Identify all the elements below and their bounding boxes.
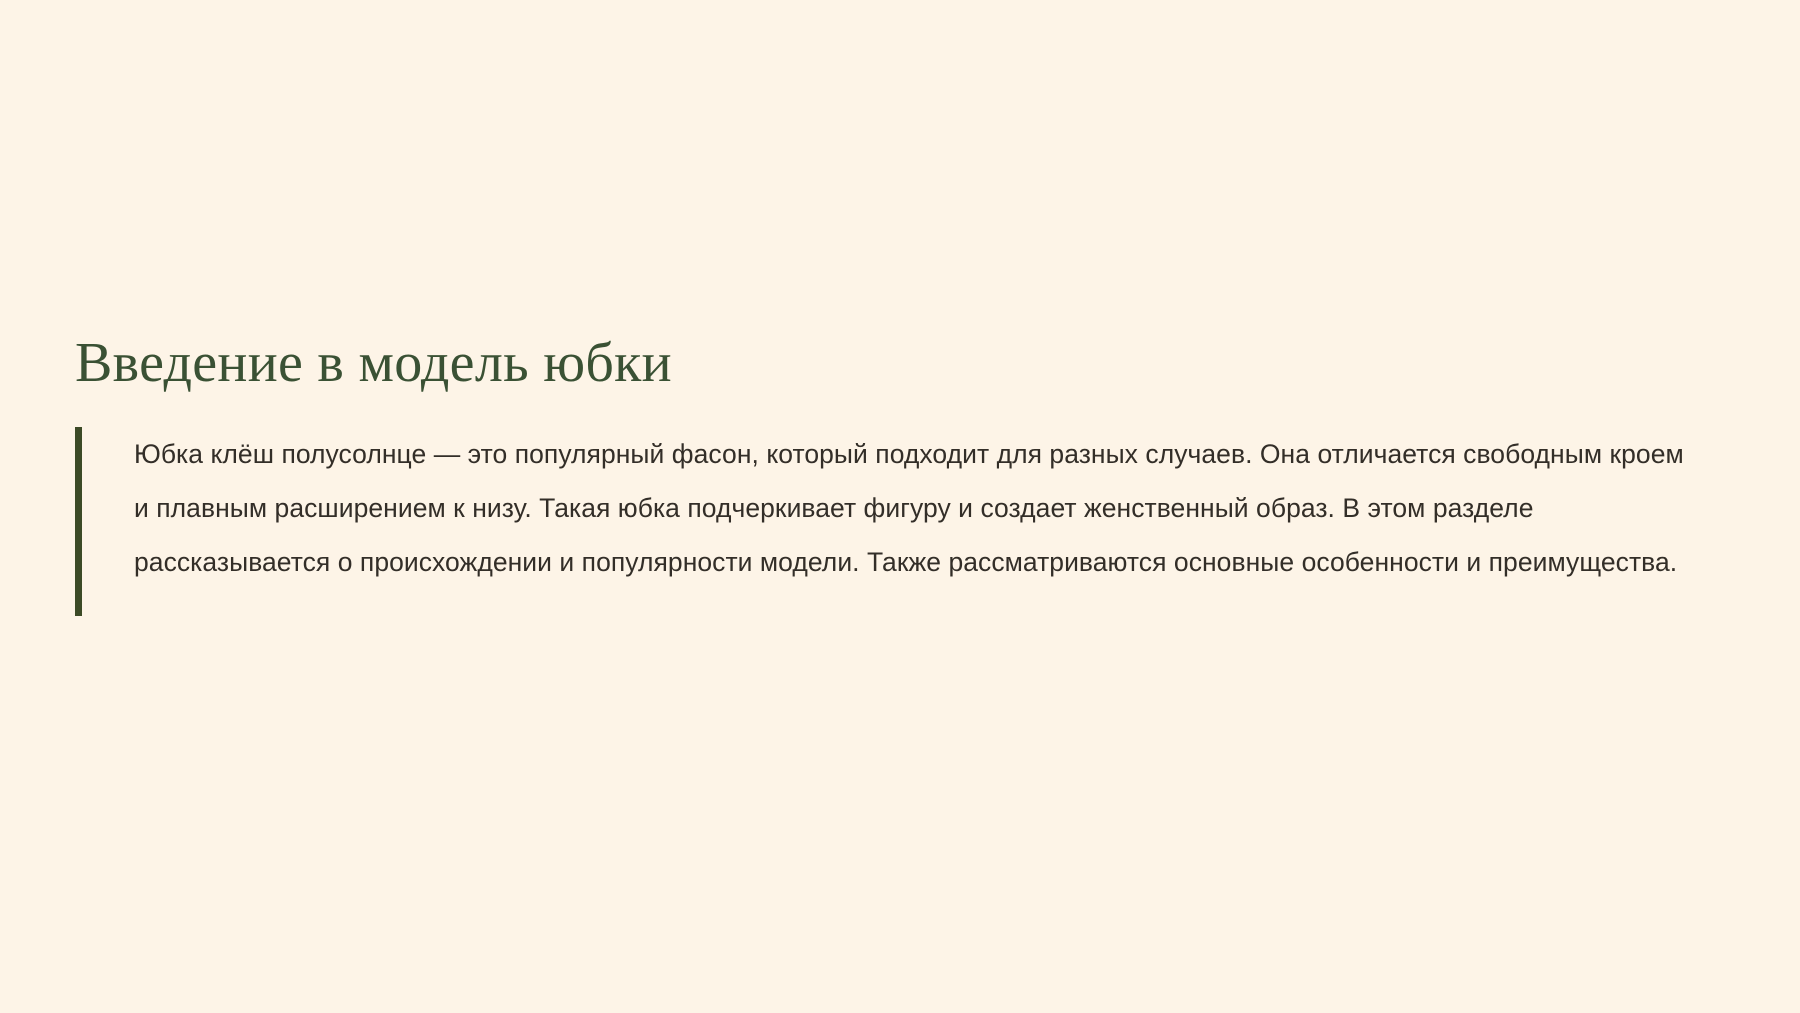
accent-bar (75, 427, 82, 616)
quote-block: Юбка клёш полусолнце — это популярный фа… (75, 427, 1715, 617)
content-block: Введение в модель юбки Юбка клёш полусол… (75, 332, 1715, 617)
page-root: Введение в модель юбки Юбка клёш полусол… (0, 0, 1800, 1013)
body-paragraph: Юбка клёш полусолнце — это популярный фа… (134, 427, 1704, 589)
page-title: Введение в модель юбки (75, 332, 1715, 395)
